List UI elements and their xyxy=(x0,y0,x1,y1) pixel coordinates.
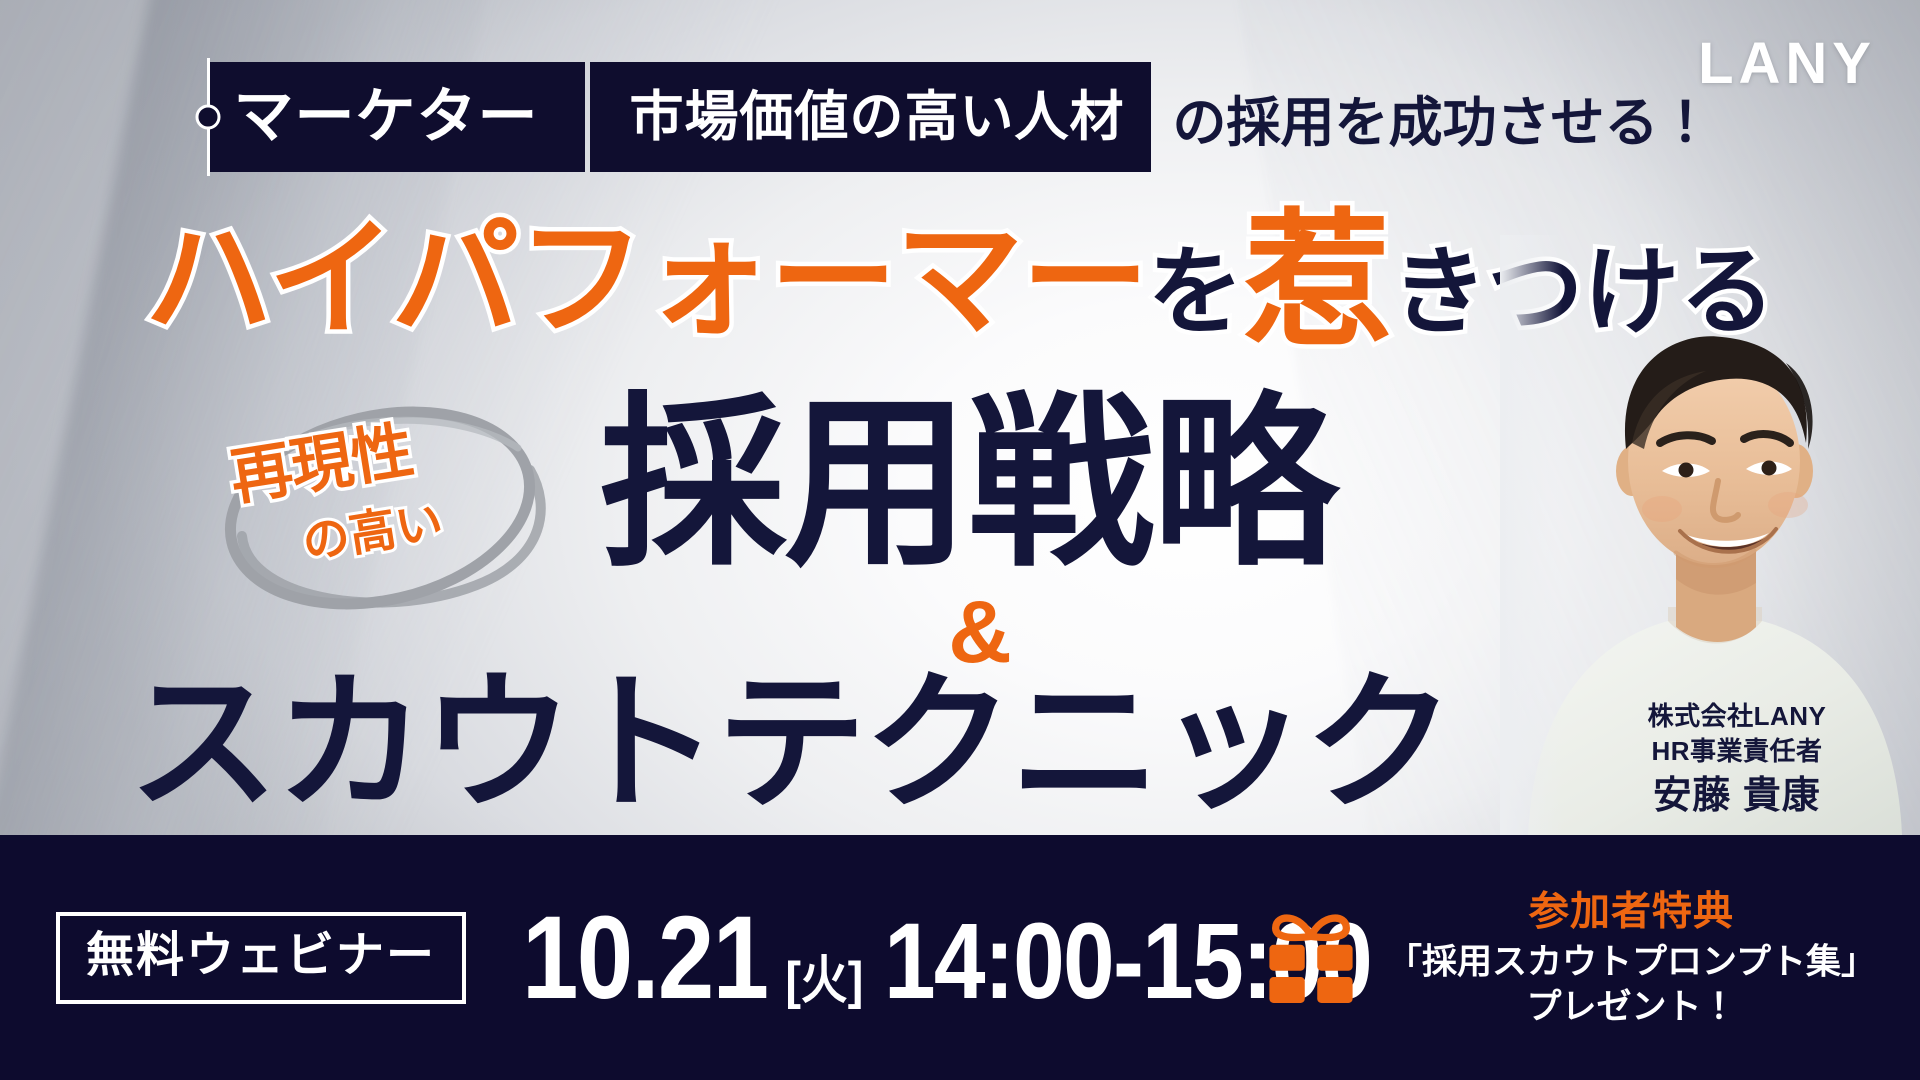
bonus-text-block: 参加者特典 「採用スカウトプロンプト集」 プレゼント！ xyxy=(1387,886,1876,1030)
headline-high-performer: ハイパフォーマー xyxy=(145,216,1148,344)
event-date: 10.21 xyxy=(522,890,767,1026)
kicker-tail-text: の採用を成功させる！ xyxy=(1151,62,1713,172)
kicker-boxes: マーケター 市場価値の高い人材 xyxy=(208,62,1151,172)
event-day-of-week: [火] xyxy=(786,938,864,1013)
free-webinar-badge: 無料ウェビナー xyxy=(56,912,466,1004)
headline-jaku-kanji: 惹 xyxy=(1243,208,1391,356)
kicker-box-talent: 市場価値の高い人材 xyxy=(590,62,1151,172)
gift-icon xyxy=(1259,906,1363,1010)
speaker-name: 安藤 貴康 xyxy=(1612,771,1862,822)
equals-circle-divider-icon xyxy=(207,58,210,176)
footer-bar: 無料ウェビナー 10.21 [火] 14:00-15:00 参加者特典 「採用ス… xyxy=(0,835,1920,1080)
kicker-box-marketer: マーケター xyxy=(208,62,585,172)
headline-wo: を xyxy=(1147,245,1243,341)
speaker-caption: 株式会社LANY HR事業責任者 安藤 貴康 xyxy=(1612,699,1862,822)
bonus-line-2: プレゼント！ xyxy=(1387,986,1876,1030)
webinar-banner: LANY マーケター 市場価値の高い人材 の採用を成功させる！ ハイパフォーマー… xyxy=(0,0,1920,1080)
kicker-row: マーケター 市場価値の高い人材 の採用を成功させる！ xyxy=(0,62,1920,172)
speaker-company: 株式会社LANY xyxy=(1612,699,1862,734)
headline-line-2: 採用戦略 xyxy=(600,392,1336,578)
bonus-line-1: 「採用スカウトプロンプト集」 xyxy=(1387,940,1876,984)
bonus-title: 参加者特典 xyxy=(1387,886,1876,936)
participant-bonus: 参加者特典 「採用スカウトプロンプト集」 プレゼント！ xyxy=(1259,886,1876,1030)
speaker-role: HR事業責任者 xyxy=(1612,734,1862,769)
